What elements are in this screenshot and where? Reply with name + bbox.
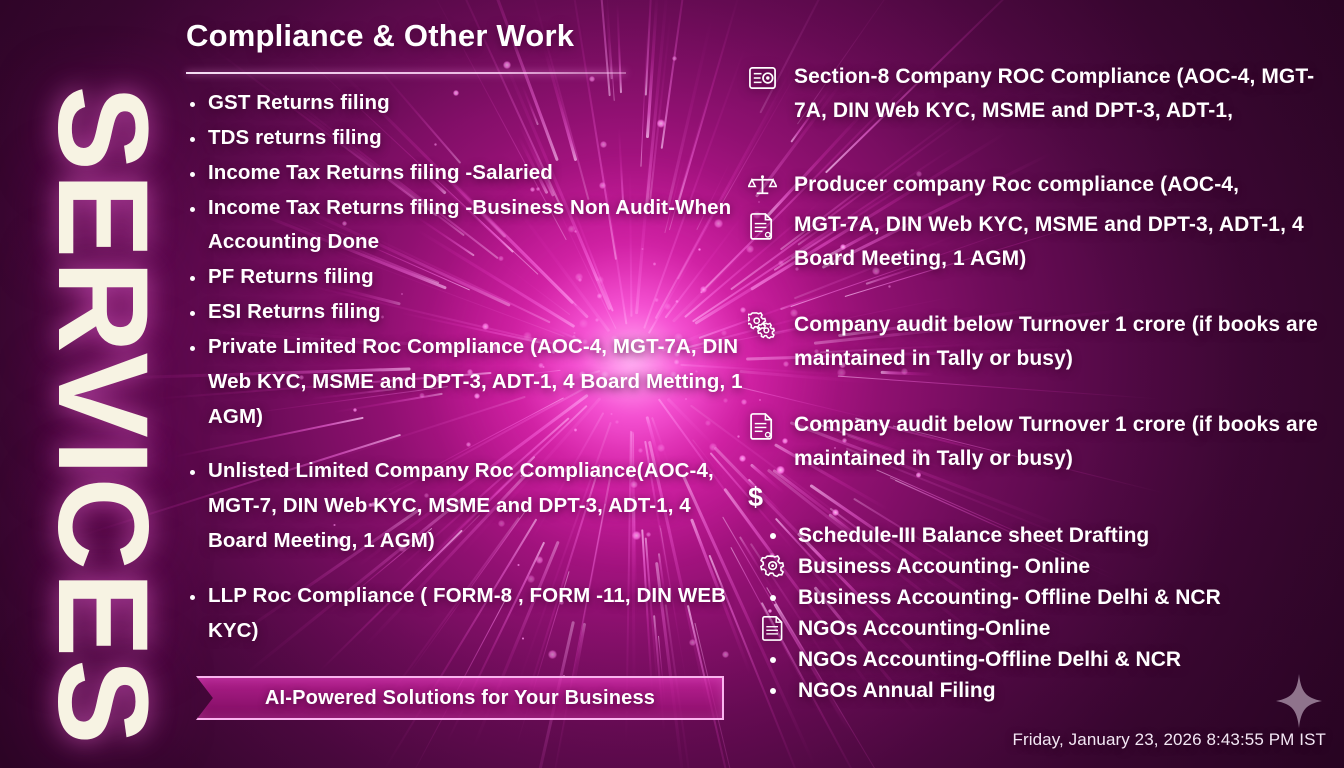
bullet-marker <box>748 520 798 551</box>
list-item: ESI Returns filing <box>186 295 746 330</box>
list-item: NGOs Accounting-Offline Delhi & NCR <box>748 644 1328 675</box>
document-icon <box>748 208 794 241</box>
right-bottom-block: Schedule-III Balance sheet DraftingBusin… <box>748 520 1328 706</box>
right-list-item: MGT-7A, DIN Web KYC, MSME and DPT-3, ADT… <box>748 208 1328 276</box>
list-item: NGOs Accounting-Online <box>748 613 1328 644</box>
left-column: Compliance & Other Work GST Returns fili… <box>186 18 746 649</box>
sparkle-icon <box>1276 674 1322 728</box>
right-items-container: Section-8 Company ROC Compliance (AOC-4,… <box>748 60 1328 530</box>
list-item: NGOs Annual Filing <box>748 675 1328 706</box>
list-item: GST Returns filing <box>186 86 746 121</box>
right-list-item-text: Section-8 Company ROC Compliance (AOC-4,… <box>794 60 1328 128</box>
document-icon <box>748 408 794 441</box>
list-item-label: NGOs Accounting-Offline Delhi & NCR <box>798 644 1181 675</box>
ribbon-label: AI-Powered Solutions for Your Business <box>265 687 655 710</box>
left-list-group-b: Private Limited Roc Compliance (AOC-4, M… <box>186 330 746 649</box>
list-item: Business Accounting- Offline Delhi & NCR <box>748 582 1328 613</box>
right-list-item-text: MGT-7A, DIN Web KYC, MSME and DPT-3, ADT… <box>794 208 1328 276</box>
tagline-ribbon: AI-Powered Solutions for Your Business <box>196 676 724 720</box>
left-list-group-a: GST Returns filingTDS returns filingInco… <box>186 86 746 330</box>
right-list-item-text: Company audit below Turnover 1 crore (if… <box>794 408 1328 476</box>
list-item: PF Returns filing <box>186 260 746 295</box>
bullet-marker <box>748 582 798 613</box>
list-item: TDS returns filing <box>186 121 746 156</box>
list-item-label: Business Accounting- Offline Delhi & NCR <box>798 582 1221 613</box>
right-bottom-list: Schedule-III Balance sheet DraftingBusin… <box>748 520 1328 706</box>
right-list-item: Section-8 Company ROC Compliance (AOC-4,… <box>748 60 1328 128</box>
list-item: Business Accounting- Online <box>748 551 1328 582</box>
right-list-item: Producer company Roc compliance (AOC-4, <box>748 168 1328 202</box>
bullet-marker <box>748 644 798 675</box>
list-item: Income Tax Returns filing -Business Non … <box>186 191 746 261</box>
dollar-icon: $ <box>748 480 794 511</box>
list-item: Income Tax Returns filing -Salaried <box>186 156 746 191</box>
certificate-badge-icon <box>748 60 794 93</box>
page-title: Compliance & Other Work <box>186 18 746 54</box>
slide-canvas: SERVICES Compliance & Other Work GST Ret… <box>0 0 1344 768</box>
list-item-label: Business Accounting- Online <box>798 551 1090 582</box>
lines-document-icon <box>748 613 798 644</box>
right-list-item: Company audit below Turnover 1 crore (if… <box>748 308 1328 376</box>
list-item: LLP Roc Compliance ( FORM-8 , FORM -11, … <box>186 579 746 649</box>
list-item-label: NGOs Annual Filing <box>798 675 996 706</box>
bullet-marker <box>748 675 798 706</box>
balance-scales-icon <box>748 168 794 201</box>
gear-icon <box>748 551 798 582</box>
list-item: Private Limited Roc Compliance (AOC-4, M… <box>186 330 746 435</box>
list-item: Unlisted Limited Company Roc Compliance(… <box>186 454 746 559</box>
right-list-item-text: Producer company Roc compliance (AOC-4, <box>794 168 1328 202</box>
list-item: Schedule-III Balance sheet Drafting <box>748 520 1328 551</box>
right-list-item-text: Company audit below Turnover 1 crore (if… <box>794 308 1328 376</box>
list-item-label: Schedule-III Balance sheet Drafting <box>798 520 1149 551</box>
right-column: Section-8 Company ROC Compliance (AOC-4,… <box>748 60 1328 530</box>
side-title-services: SERVICES <box>38 56 166 768</box>
timestamp: Friday, January 23, 2026 8:43:55 PM IST <box>1012 730 1326 750</box>
gears-icon <box>748 308 794 341</box>
right-list-item: $ <box>748 480 1328 511</box>
list-item-label: NGOs Accounting-Online <box>798 613 1050 644</box>
title-divider <box>186 72 626 74</box>
right-list-item: Company audit below Turnover 1 crore (if… <box>748 408 1328 476</box>
